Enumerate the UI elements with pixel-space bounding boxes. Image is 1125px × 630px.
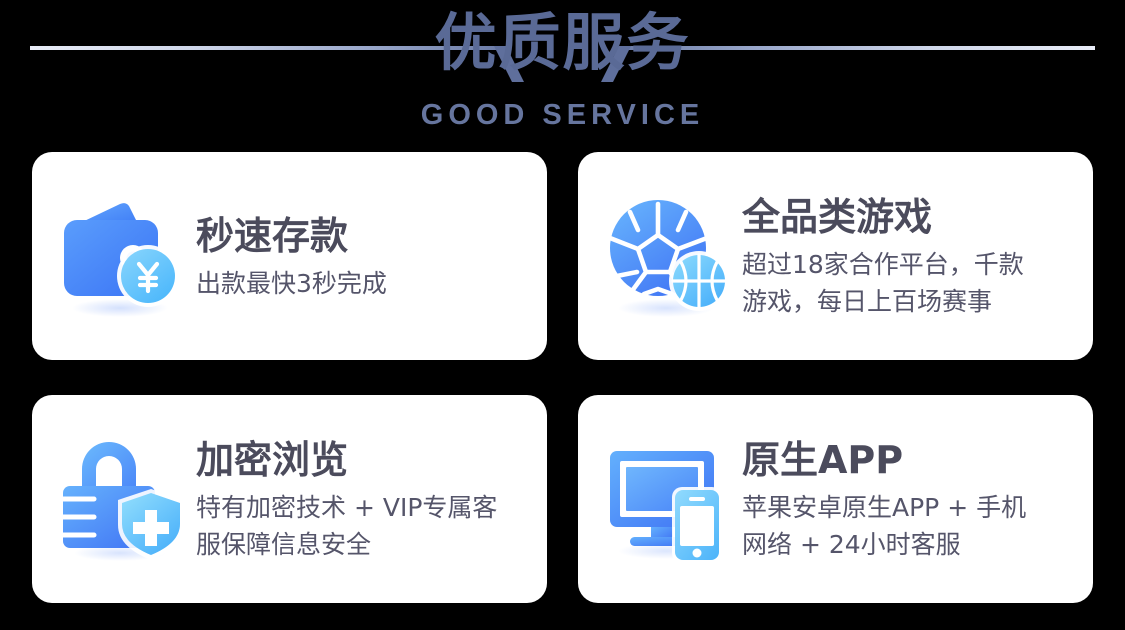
good-service-banner: 优质服务 GOOD SERVICE	[0, 0, 1125, 630]
card-title: 全品类游戏	[742, 194, 1071, 240]
card-title: 秒速存款	[196, 213, 525, 259]
page-title: 优质服务	[0, 6, 1125, 80]
card-desc-line: 特有加密技术 + VIP专属客	[196, 489, 525, 526]
page-subtitle: GOOD SERVICE	[0, 98, 1125, 132]
lock-shield-icon	[58, 433, 190, 565]
feature-card-games-text: 全品类游戏 超过18家合作平台，千款 游戏，每日上百场赛事	[742, 192, 1071, 320]
banner-header: 优质服务 GOOD SERVICE	[0, 0, 1125, 146]
card-desc-line: 超过18家合作平台，千款	[742, 246, 1071, 283]
feature-card-games[interactable]: 全品类游戏 超过18家合作平台，千款 游戏，每日上百场赛事	[578, 152, 1093, 360]
feature-card-deposit-text: 秒速存款 出款最快3秒完成	[196, 211, 525, 302]
card-desc-line: 出款最快3秒完成	[196, 265, 525, 302]
card-desc-line: 网络 + 24小时客服	[742, 526, 1071, 563]
feature-card-encryption[interactable]: 加密浏览 特有加密技术 + VIP专属客 服保障信息安全	[32, 395, 547, 603]
feature-card-native-app-text: 原生APP 苹果安卓原生APP + 手机 网络 + 24小时客服	[742, 435, 1071, 563]
card-title: 原生APP	[742, 437, 1071, 483]
card-title: 加密浏览	[196, 437, 525, 483]
monitor-phone-icon	[604, 433, 736, 565]
wallet-yen-icon	[58, 190, 190, 322]
card-desc-line: 游戏，每日上百场赛事	[742, 283, 1071, 320]
soccer-basketball-icon	[604, 190, 736, 322]
feature-card-native-app[interactable]: 原生APP 苹果安卓原生APP + 手机 网络 + 24小时客服	[578, 395, 1093, 603]
card-desc-line: 苹果安卓原生APP + 手机	[742, 489, 1071, 526]
feature-card-grid: 秒速存款 出款最快3秒完成	[32, 152, 1093, 603]
feature-card-deposit[interactable]: 秒速存款 出款最快3秒完成	[32, 152, 547, 360]
card-desc-line: 服保障信息安全	[196, 526, 525, 563]
feature-card-encryption-text: 加密浏览 特有加密技术 + VIP专属客 服保障信息安全	[196, 435, 525, 563]
